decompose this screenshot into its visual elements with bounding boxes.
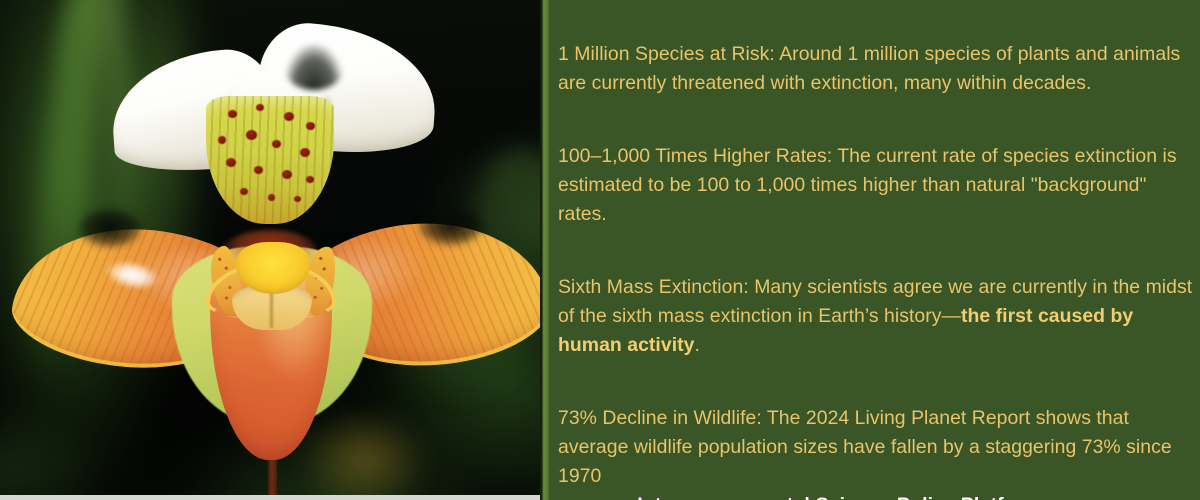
throat-spot [228, 110, 237, 118]
fact-text: 73% Decline in Wildlife: The 2024 Living… [558, 407, 1172, 487]
throat-spot [268, 194, 275, 201]
throat-spot [306, 176, 314, 183]
throat-spot [246, 130, 257, 140]
throat-spot [306, 122, 315, 130]
fact-sixth-mass-extinction: Sixth Mass Extinction: Many scientists a… [550, 244, 1200, 360]
petal-notch-shadow [418, 206, 484, 246]
pouch-mouth-crease [270, 292, 273, 328]
facts-text-panel: 1 Million Species at Risk: Around 1 mill… [549, 0, 1200, 500]
throat-spot [240, 188, 248, 195]
biodiversity-facts-list: 1 Million Species at Risk: Around 1 mill… [550, 11, 1200, 491]
petal-notch-shadow [78, 208, 142, 248]
fact-higher-rates: 100–1,000 Times Higher Rates: The curren… [550, 113, 1200, 229]
throat-spot [218, 136, 226, 144]
throat-spot [294, 196, 301, 202]
throat-spot [300, 148, 310, 157]
throat-spot [282, 170, 292, 179]
biodiversity-info-slide: 1 Million Species at Risk: Around 1 mill… [0, 0, 1200, 500]
source-attribution: Intergovernmental Science-Policy Platfor… [550, 491, 1200, 500]
slipper-orchid-photograph [0, 0, 540, 500]
fact-text-tail: . [694, 334, 699, 356]
fact-text: 100–1,000 Times Higher Rates: The curren… [558, 145, 1177, 225]
orchid-flower [0, 0, 540, 500]
fact-text: 1 Million Species at Risk: Around 1 mill… [558, 43, 1180, 94]
panel-divider [540, 0, 549, 500]
throat-spot [254, 166, 263, 174]
dorsal-sepal-notch-shadow [284, 44, 344, 90]
fact-species-at-risk: 1 Million Species at Risk: Around 1 mill… [550, 11, 1200, 98]
throat-spot [272, 140, 281, 148]
fact-wildlife-decline: 73% Decline in Wildlife: The 2024 Living… [550, 375, 1200, 491]
throat-spot [284, 112, 294, 121]
throat-spot [256, 104, 264, 111]
throat-spot [226, 158, 236, 167]
photo-bottom-rule [0, 495, 540, 500]
